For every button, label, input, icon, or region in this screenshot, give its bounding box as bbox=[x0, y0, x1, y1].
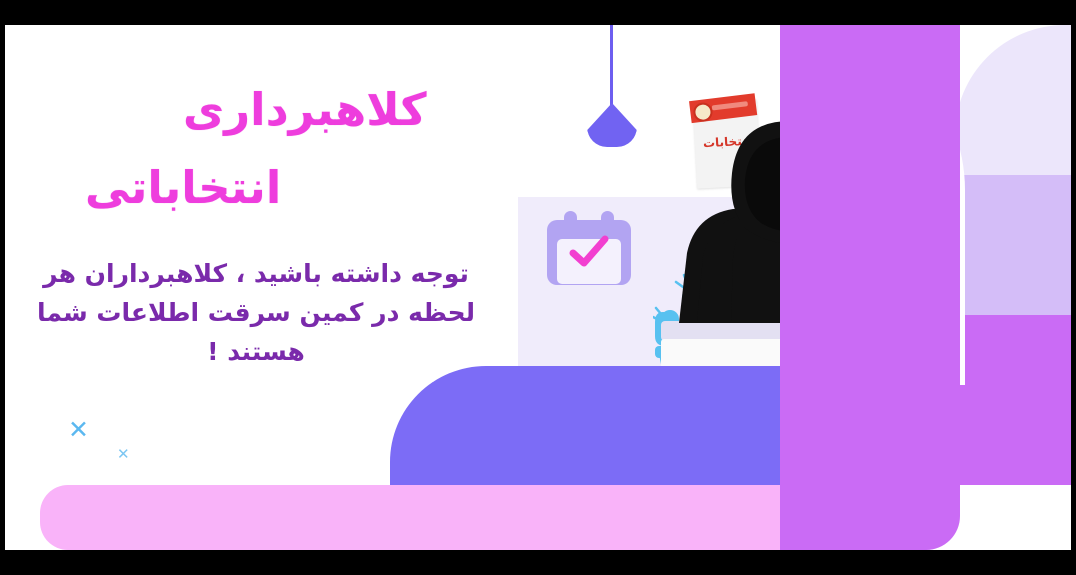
decorative-x-icon: ✕ bbox=[68, 417, 89, 442]
right-column-purple bbox=[780, 25, 960, 550]
body-warning-text: توجه داشته باشید ، کلاهبرداران هر لحظه د… bbox=[25, 255, 487, 371]
calendar-with-check-icon bbox=[547, 211, 631, 285]
letterbox-frame: کلاهبرداری انتخاباتی توجه داشته باشید ، … bbox=[0, 0, 1076, 575]
checkmark-icon bbox=[567, 233, 611, 271]
pendant-lamp-icon bbox=[587, 103, 637, 147]
background-band-purple-bright bbox=[955, 315, 1071, 485]
page-title-line-2: انتخاباتی bbox=[85, 165, 281, 210]
ballot-banner-bar bbox=[712, 101, 748, 110]
bottom-block-blue bbox=[390, 366, 790, 491]
background-band-lavender-pale bbox=[955, 25, 1071, 175]
decorative-x-small-icon: ✕ bbox=[117, 447, 130, 462]
lamp-cord bbox=[610, 25, 613, 107]
background-band-lavender-mid bbox=[955, 175, 1071, 315]
page-title-line-1: کلاهبرداری bbox=[183, 87, 427, 132]
slide-canvas: کلاهبرداری انتخاباتی توجه داشته باشید ، … bbox=[5, 25, 1071, 550]
bottom-band-pink bbox=[40, 485, 785, 550]
